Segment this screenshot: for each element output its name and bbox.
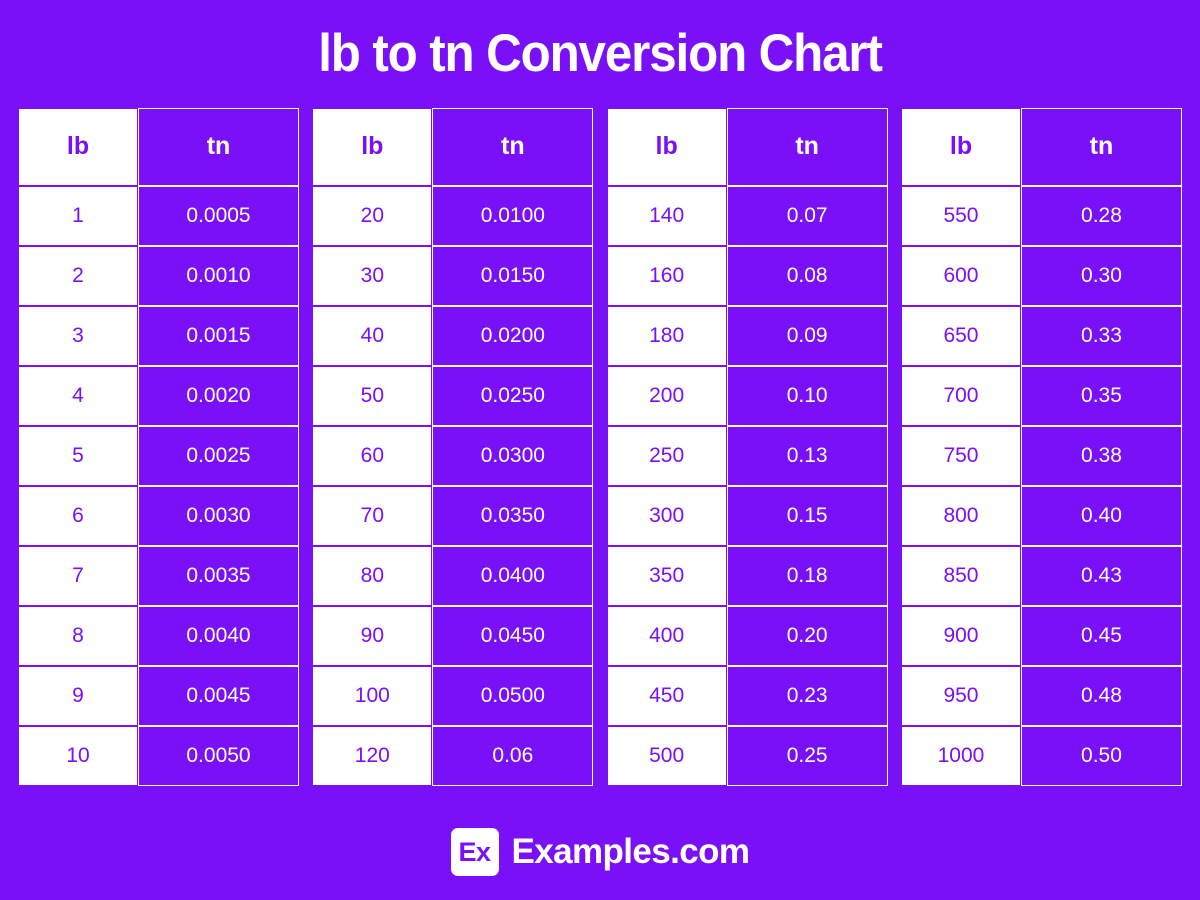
cell-lb-value: 140 bbox=[607, 186, 727, 246]
cell-tn-value: 0.48 bbox=[1021, 666, 1182, 726]
cell-lb-value: 120 bbox=[312, 726, 432, 786]
cell-tn-value: 0.0025 bbox=[138, 426, 299, 486]
table-row: 4000.20 bbox=[607, 606, 888, 666]
table-row: 20.0010 bbox=[18, 246, 299, 306]
table-header-row: lbtn bbox=[607, 108, 888, 186]
cell-lb-value: 550 bbox=[901, 186, 1021, 246]
tables-container: lbtn10.000520.001030.001540.002050.00256… bbox=[0, 108, 1200, 786]
cell-lb-value: 850 bbox=[901, 546, 1021, 606]
table-row: 8500.43 bbox=[901, 546, 1182, 606]
cell-tn-value: 0.08 bbox=[727, 246, 888, 306]
cell-tn-value: 0.07 bbox=[727, 186, 888, 246]
cell-lb-value: 450 bbox=[607, 666, 727, 726]
cell-lb-value: 8 bbox=[18, 606, 138, 666]
conversion-table-2: lbtn200.0100300.0150400.0200500.0250600.… bbox=[312, 108, 593, 786]
table-row: 600.0300 bbox=[312, 426, 593, 486]
cell-lb-value: 90 bbox=[312, 606, 432, 666]
cell-tn-value: 0.33 bbox=[1021, 306, 1182, 366]
table-row: 50.0025 bbox=[18, 426, 299, 486]
cell-tn-value: 0.0035 bbox=[138, 546, 299, 606]
conversion-table-3: lbtn1400.071600.081800.092000.102500.133… bbox=[607, 108, 888, 786]
table-row: 200.0100 bbox=[312, 186, 593, 246]
cell-lb-value: 750 bbox=[901, 426, 1021, 486]
cell-tn-value: 0.50 bbox=[1021, 726, 1182, 786]
table-row: 400.0200 bbox=[312, 306, 593, 366]
cell-lb-value: 650 bbox=[901, 306, 1021, 366]
cell-tn-value: 0.0200 bbox=[432, 306, 593, 366]
cell-lb-value: 400 bbox=[607, 606, 727, 666]
cell-tn-value: 0.15 bbox=[727, 486, 888, 546]
table-row: 9500.48 bbox=[901, 666, 1182, 726]
cell-tn-value: 0.43 bbox=[1021, 546, 1182, 606]
cell-tn-value: 0.0400 bbox=[432, 546, 593, 606]
table-row: 30.0015 bbox=[18, 306, 299, 366]
cell-lb-value: 4 bbox=[18, 366, 138, 426]
table-row: 9000.45 bbox=[901, 606, 1182, 666]
cell-tn-value: 0.38 bbox=[1021, 426, 1182, 486]
table-row: 10.0005 bbox=[18, 186, 299, 246]
cell-lb-value: 100 bbox=[312, 666, 432, 726]
table-row: 100.0050 bbox=[18, 726, 299, 786]
cell-tn-value: 0.13 bbox=[727, 426, 888, 486]
cell-tn-value: 0.0005 bbox=[138, 186, 299, 246]
table-header-row: lbtn bbox=[18, 108, 299, 186]
brand-name: Examples.com bbox=[512, 832, 750, 872]
cell-lb-value: 9 bbox=[18, 666, 138, 726]
column-header-lb: lb bbox=[901, 108, 1021, 186]
table-row: 60.0030 bbox=[18, 486, 299, 546]
cell-tn-value: 0.0350 bbox=[432, 486, 593, 546]
cell-tn-value: 0.0500 bbox=[432, 666, 593, 726]
table-row: 70.0035 bbox=[18, 546, 299, 606]
cell-lb-value: 10 bbox=[18, 726, 138, 786]
cell-lb-value: 1000 bbox=[901, 726, 1021, 786]
table-row: 2000.10 bbox=[607, 366, 888, 426]
table-row: 5500.28 bbox=[901, 186, 1182, 246]
table-row: 1000.0500 bbox=[312, 666, 593, 726]
table-row: 4500.23 bbox=[607, 666, 888, 726]
table-row: 2500.13 bbox=[607, 426, 888, 486]
table-row: 80.0040 bbox=[18, 606, 299, 666]
table-row: 8000.40 bbox=[901, 486, 1182, 546]
cell-lb-value: 3 bbox=[18, 306, 138, 366]
table-row: 3000.15 bbox=[607, 486, 888, 546]
cell-lb-value: 500 bbox=[607, 726, 727, 786]
column-header-tn: tn bbox=[138, 108, 299, 186]
table-row: 6500.33 bbox=[901, 306, 1182, 366]
cell-lb-value: 350 bbox=[607, 546, 727, 606]
cell-tn-value: 0.45 bbox=[1021, 606, 1182, 666]
table-row: 1600.08 bbox=[607, 246, 888, 306]
table-row: 1800.09 bbox=[607, 306, 888, 366]
cell-tn-value: 0.0045 bbox=[138, 666, 299, 726]
cell-lb-value: 40 bbox=[312, 306, 432, 366]
cell-lb-value: 30 bbox=[312, 246, 432, 306]
column-header-tn: tn bbox=[727, 108, 888, 186]
table-header-row: lbtn bbox=[901, 108, 1182, 186]
cell-lb-value: 50 bbox=[312, 366, 432, 426]
cell-lb-value: 6 bbox=[18, 486, 138, 546]
cell-tn-value: 0.0150 bbox=[432, 246, 593, 306]
footer-branding: Ex Examples.com bbox=[0, 828, 1200, 876]
cell-tn-value: 0.18 bbox=[727, 546, 888, 606]
column-header-tn: tn bbox=[1021, 108, 1182, 186]
cell-lb-value: 900 bbox=[901, 606, 1021, 666]
cell-lb-value: 160 bbox=[607, 246, 727, 306]
cell-tn-value: 0.30 bbox=[1021, 246, 1182, 306]
column-header-lb: lb bbox=[18, 108, 138, 186]
cell-lb-value: 200 bbox=[607, 366, 727, 426]
column-header-lb: lb bbox=[607, 108, 727, 186]
cell-tn-value: 0.0040 bbox=[138, 606, 299, 666]
table-header-row: lbtn bbox=[312, 108, 593, 186]
table-row: 800.0400 bbox=[312, 546, 593, 606]
cell-tn-value: 0.0450 bbox=[432, 606, 593, 666]
cell-tn-value: 0.06 bbox=[432, 726, 593, 786]
table-row: 90.0045 bbox=[18, 666, 299, 726]
cell-lb-value: 2 bbox=[18, 246, 138, 306]
conversion-table-4: lbtn5500.286000.306500.337000.357500.388… bbox=[901, 108, 1182, 786]
cell-tn-value: 0.0250 bbox=[432, 366, 593, 426]
cell-tn-value: 0.25 bbox=[727, 726, 888, 786]
cell-lb-value: 800 bbox=[901, 486, 1021, 546]
table-row: 3500.18 bbox=[607, 546, 888, 606]
cell-lb-value: 950 bbox=[901, 666, 1021, 726]
cell-lb-value: 1 bbox=[18, 186, 138, 246]
table-row: 5000.25 bbox=[607, 726, 888, 786]
cell-tn-value: 0.40 bbox=[1021, 486, 1182, 546]
examples-logo-icon: Ex bbox=[451, 828, 499, 876]
cell-tn-value: 0.20 bbox=[727, 606, 888, 666]
cell-lb-value: 70 bbox=[312, 486, 432, 546]
table-row: 6000.30 bbox=[901, 246, 1182, 306]
cell-tn-value: 0.10 bbox=[727, 366, 888, 426]
conversion-table-1: lbtn10.000520.001030.001540.002050.00256… bbox=[18, 108, 299, 786]
cell-tn-value: 0.0010 bbox=[138, 246, 299, 306]
table-row: 10000.50 bbox=[901, 726, 1182, 786]
cell-tn-value: 0.23 bbox=[727, 666, 888, 726]
cell-tn-value: 0.0300 bbox=[432, 426, 593, 486]
table-row: 7000.35 bbox=[901, 366, 1182, 426]
cell-lb-value: 180 bbox=[607, 306, 727, 366]
table-row: 7500.38 bbox=[901, 426, 1182, 486]
cell-lb-value: 600 bbox=[901, 246, 1021, 306]
cell-tn-value: 0.09 bbox=[727, 306, 888, 366]
table-row: 40.0020 bbox=[18, 366, 299, 426]
cell-tn-value: 0.35 bbox=[1021, 366, 1182, 426]
table-row: 1200.06 bbox=[312, 726, 593, 786]
cell-lb-value: 700 bbox=[901, 366, 1021, 426]
cell-tn-value: 0.0015 bbox=[138, 306, 299, 366]
cell-tn-value: 0.0020 bbox=[138, 366, 299, 426]
cell-lb-value: 5 bbox=[18, 426, 138, 486]
column-header-tn: tn bbox=[432, 108, 593, 186]
column-header-lb: lb bbox=[312, 108, 432, 186]
cell-lb-value: 250 bbox=[607, 426, 727, 486]
cell-tn-value: 0.0100 bbox=[432, 186, 593, 246]
table-row: 500.0250 bbox=[312, 366, 593, 426]
table-row: 900.0450 bbox=[312, 606, 593, 666]
cell-tn-value: 0.0050 bbox=[138, 726, 299, 786]
cell-lb-value: 7 bbox=[18, 546, 138, 606]
cell-lb-value: 60 bbox=[312, 426, 432, 486]
table-row: 300.0150 bbox=[312, 246, 593, 306]
table-row: 1400.07 bbox=[607, 186, 888, 246]
cell-lb-value: 20 bbox=[312, 186, 432, 246]
cell-tn-value: 0.28 bbox=[1021, 186, 1182, 246]
table-row: 700.0350 bbox=[312, 486, 593, 546]
cell-lb-value: 300 bbox=[607, 486, 727, 546]
cell-lb-value: 80 bbox=[312, 546, 432, 606]
page-title: lb to tn Conversion Chart bbox=[318, 26, 882, 82]
conversion-chart-page: lb to tn Conversion Chart lbtn10.000520.… bbox=[0, 0, 1200, 900]
cell-tn-value: 0.0030 bbox=[138, 486, 299, 546]
